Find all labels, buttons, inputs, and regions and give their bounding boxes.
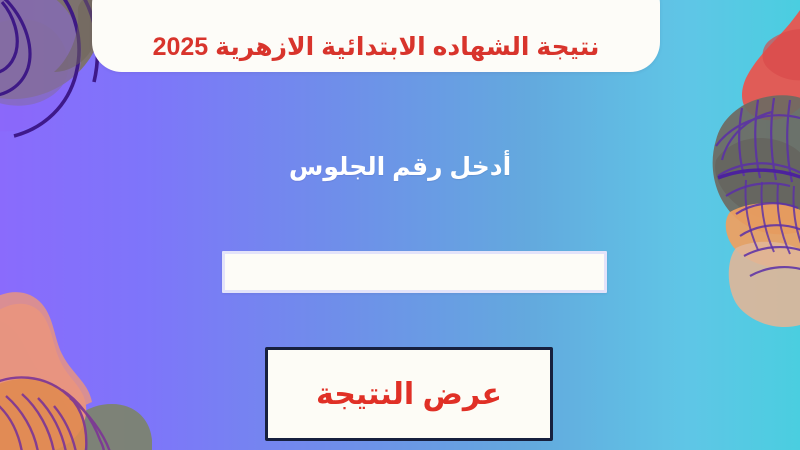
blob-bottom-left-group <box>0 292 152 450</box>
page-title-card: نتيجة الشهاده الابتدائية الازهرية 2025 <box>92 0 660 72</box>
blob-top-left-group <box>0 0 102 136</box>
blob-line-1 <box>0 0 30 96</box>
blob-bl-line-8 <box>70 398 110 450</box>
blob-bottom-left-olive <box>52 404 152 450</box>
blob-top-left-gray <box>0 0 102 99</box>
blob-bl-line-2 <box>0 400 22 450</box>
blob-r-line-11 <box>744 247 800 256</box>
blob-top-left-gray-2 <box>0 19 68 106</box>
blob-bottom-left-salmon-2 <box>0 292 92 412</box>
blob-bl-line-4 <box>22 394 54 450</box>
blob-bottom-left-salmon <box>0 304 86 450</box>
blob-bl-line-6 <box>54 406 76 450</box>
blob-top-left-purple <box>0 0 81 131</box>
blob-right-coral-2 <box>763 29 800 80</box>
blob-bl-line-5 <box>38 398 66 450</box>
blob-bl-line-7 <box>62 390 104 450</box>
blob-r-line-8 <box>726 183 790 196</box>
seat-number-label: أدخل رقم الجلوس <box>0 152 800 182</box>
blob-r-line-12 <box>750 267 800 276</box>
blob-bl-line-1 <box>0 377 86 450</box>
blob-bottom-left-orange <box>0 379 86 450</box>
blob-bl-line-3 <box>6 396 38 450</box>
blob-r-line-10 <box>740 225 800 236</box>
blob-r-line-16 <box>794 186 800 256</box>
result-page-screenshot: نتيجة الشهاده الابتدائية الازهرية 2025 أ… <box>0 0 800 450</box>
view-result-button[interactable]: عرض النتيجة <box>265 347 553 441</box>
view-result-button-label: عرض النتيجة <box>316 378 502 411</box>
page-title: نتيجة الشهاده الابتدائية الازهرية 2025 <box>153 32 600 62</box>
blob-line-2 <box>0 2 17 74</box>
blob-r-line-13 <box>746 180 759 250</box>
blob-right-tan <box>729 242 800 327</box>
seat-number-input[interactable] <box>222 251 607 293</box>
blob-r-line-9 <box>736 203 798 214</box>
blob-r-line-14 <box>762 182 775 252</box>
blob-right-orange <box>726 203 800 268</box>
blob-r-line-1 <box>716 115 800 146</box>
blob-r-line-15 <box>778 184 791 254</box>
blob-line-3 <box>14 0 79 136</box>
blob-right-coral <box>742 0 800 120</box>
